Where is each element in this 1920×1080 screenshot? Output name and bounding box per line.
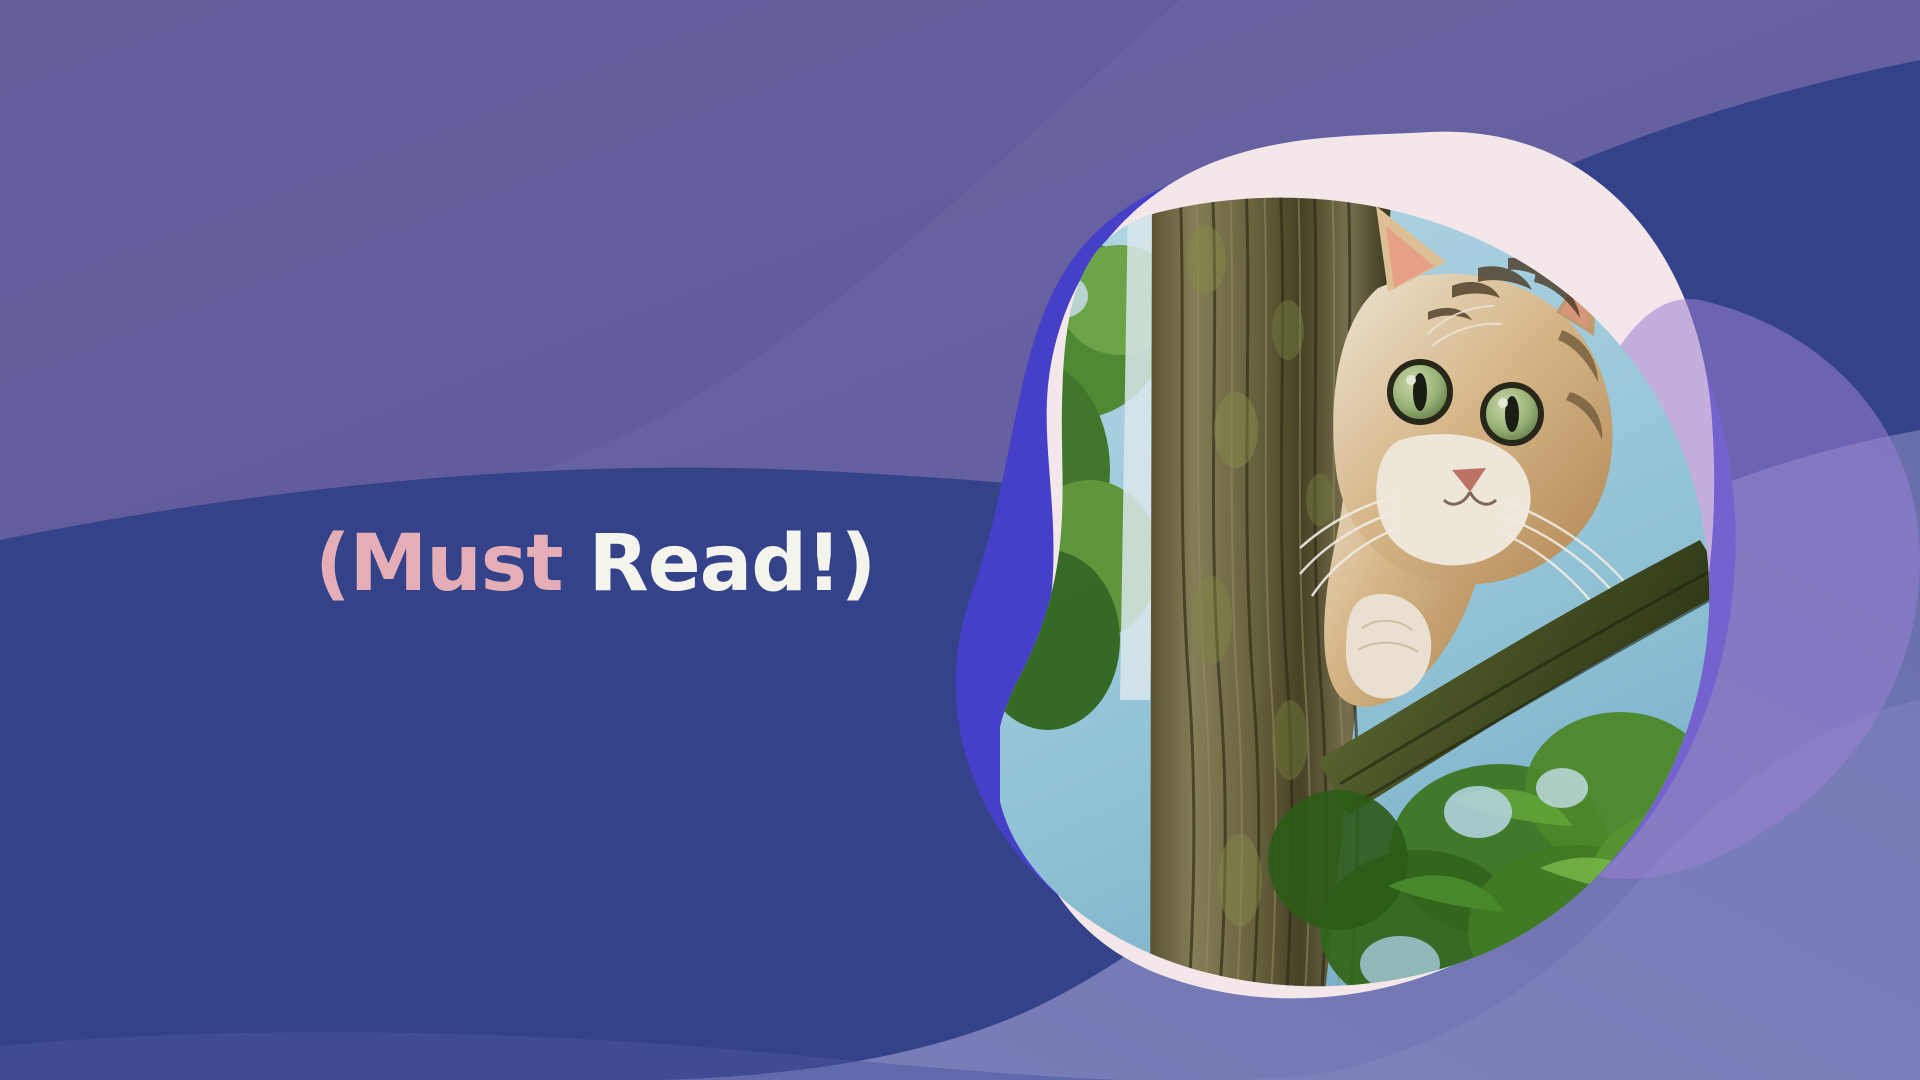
kitten-photo bbox=[950, 180, 1770, 1040]
decor-blob-violet bbox=[1496, 299, 1920, 879]
background-waves bbox=[0, 0, 1920, 1080]
wave-top-left bbox=[0, 0, 1920, 744]
kitten-head bbox=[1333, 274, 1612, 585]
wave-bottom-right-light bbox=[1190, 700, 1920, 1080]
kitten-eye-right bbox=[1483, 385, 1541, 443]
kitten-ear-left bbox=[1376, 206, 1446, 292]
decor-blob-pink bbox=[1022, 132, 1715, 999]
wave-mid-dark bbox=[0, 468, 1920, 1080]
background-base bbox=[0, 0, 1920, 1080]
foliage-lower bbox=[1268, 712, 1770, 1015]
headline-segment-pink: (Must bbox=[315, 519, 563, 609]
kitten-ear-right bbox=[1556, 248, 1598, 336]
wave-bottom-left-sliver bbox=[0, 1032, 1120, 1080]
kitten-eye-left bbox=[1390, 362, 1450, 422]
headline: (Must Read!) bbox=[315, 520, 875, 610]
kitten-nose bbox=[1452, 468, 1486, 492]
slide-canvas: (Must Read!) bbox=[0, 0, 1920, 1080]
tree-branch bbox=[1318, 540, 1730, 816]
headline-segment-white: Read!) bbox=[563, 519, 876, 609]
wave-top-left-inner bbox=[0, 0, 1180, 560]
tree-trunk bbox=[1150, 180, 1392, 1040]
photo-composition bbox=[0, 0, 1920, 1080]
kitten bbox=[1300, 206, 1628, 707]
decor-blob-blue bbox=[956, 147, 1736, 982]
